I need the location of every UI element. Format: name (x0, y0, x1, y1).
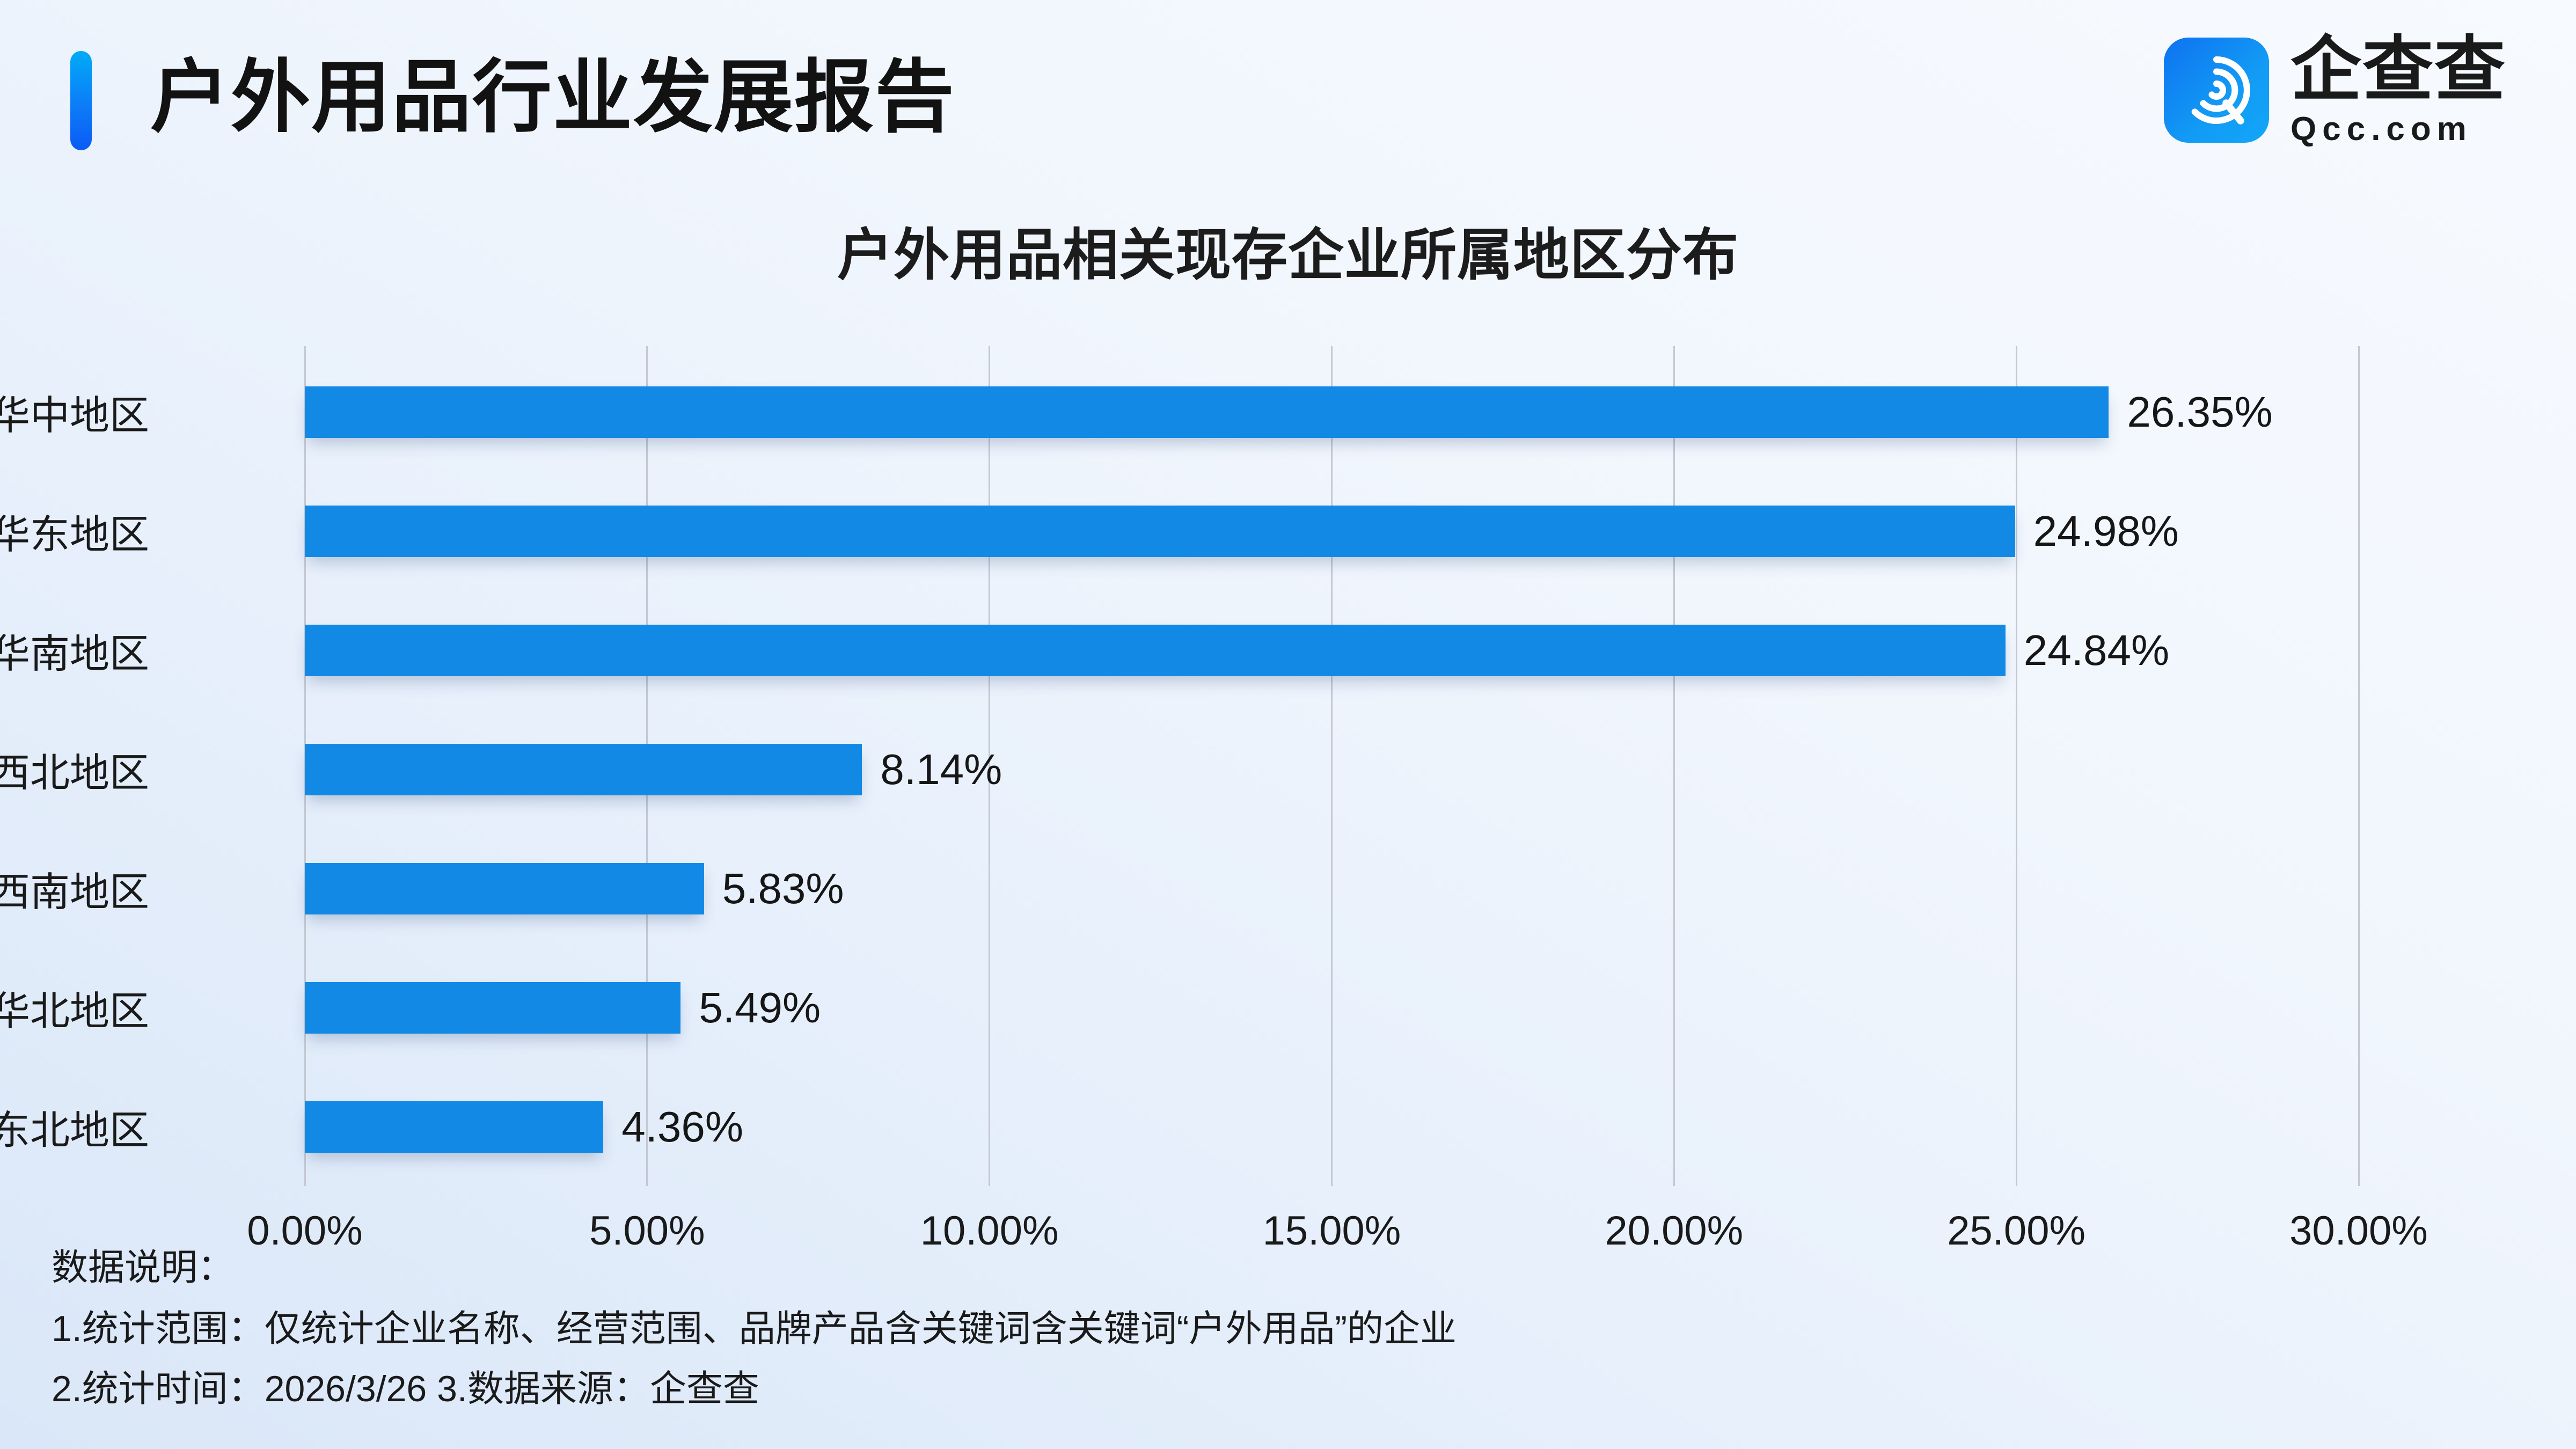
category-label-2: 华东地区 (0, 503, 149, 560)
x-axis-tick-label: 15.00% (1263, 1207, 1401, 1254)
x-gridline (2016, 346, 2017, 1186)
bar-value-label-5: 5.83% (722, 864, 844, 913)
category-label-4: 西北地区 (0, 741, 149, 799)
bar-value-label-2: 24.98% (2033, 507, 2179, 556)
footnotes: 数据说明： 1.统计范围：仅统计企业名称、经营范围、品牌产品含关键词含关键词“户… (52, 1249, 2520, 1431)
bar-value-label-6: 5.49% (699, 983, 821, 1033)
bar-value-label-4: 8.14% (880, 745, 1002, 794)
x-gridline (1673, 346, 1675, 1186)
bar-6[interactable] (305, 982, 680, 1034)
bar-3[interactable] (305, 625, 2006, 676)
bar-2[interactable] (305, 506, 2015, 557)
x-gridline (1331, 346, 1333, 1186)
category-label-6: 华北地区 (0, 979, 149, 1037)
category-label-1: 华中地区 (0, 384, 149, 441)
bar-1[interactable] (305, 386, 2109, 438)
x-axis-tick-label: 25.00% (1947, 1207, 2085, 1254)
bar-7[interactable] (305, 1101, 603, 1153)
category-label-7: 东北地区 (0, 1099, 149, 1156)
footnote-line-1: 1.统计范围：仅统计企业名称、经营范围、品牌产品含关键词含关键词“户外用品”的企… (52, 1311, 2520, 1347)
x-axis-tick-label: 20.00% (1605, 1207, 1743, 1254)
bar-value-label-3: 24.84% (2024, 626, 2169, 675)
footnote-line-2: 2.统计时间：2026/3/26 3.数据来源：企查查 (52, 1371, 2520, 1407)
x-gridline (2358, 346, 2360, 1186)
x-axis-tick-label: 5.00% (589, 1207, 705, 1254)
bar-chart: 0.00%5.00%10.00%15.00%20.00%25.00%30.00%… (0, 0, 2576, 1449)
footnote-heading: 数据说明： (52, 1249, 2520, 1286)
bar-value-label-1: 26.35% (2127, 387, 2272, 437)
bar-5[interactable] (305, 863, 704, 914)
category-label-5: 西南地区 (0, 860, 149, 918)
x-axis-tick-label: 0.00% (247, 1207, 363, 1254)
category-label-3: 华南地区 (0, 622, 149, 679)
x-axis-tick-label: 10.00% (920, 1207, 1059, 1254)
x-axis-tick-label: 30.00% (2289, 1207, 2428, 1254)
bar-value-label-7: 4.36% (621, 1102, 743, 1152)
bar-4[interactable] (305, 744, 862, 795)
